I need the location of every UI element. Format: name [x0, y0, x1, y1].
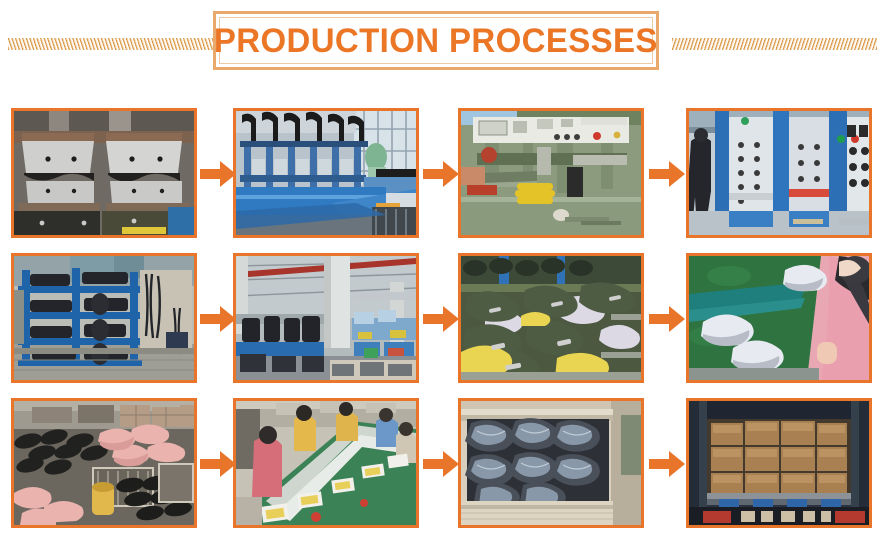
photo-packing — [461, 401, 641, 525]
process-step-photo[interactable] — [458, 108, 644, 238]
process-step-photo[interactable] — [686, 108, 872, 238]
photo-quality-inspection — [689, 256, 869, 380]
arrow-right-icon — [423, 305, 459, 333]
process-step-photo[interactable] — [686, 253, 872, 383]
hatched-divider-left-icon — [8, 38, 213, 50]
process-grid — [0, 88, 889, 536]
photo-molded-uppers — [461, 256, 641, 380]
process-step-photo[interactable] — [233, 398, 419, 528]
photo-machine-operation — [689, 111, 869, 235]
process-step-photo[interactable] — [458, 398, 644, 528]
arrow-right-icon — [423, 450, 459, 478]
hatched-divider-right-icon — [672, 38, 877, 50]
photo-assembly-parts — [14, 401, 194, 525]
arrow-right-icon — [649, 305, 685, 333]
photo-workshop-overview — [236, 256, 416, 380]
process-step-photo[interactable] — [11, 253, 197, 383]
photo-injection-molding-line — [236, 111, 416, 235]
arrow-right-icon — [649, 160, 685, 188]
photo-mold-making — [14, 111, 194, 235]
photo-material-racks — [14, 256, 194, 380]
process-row — [0, 253, 889, 383]
process-step-photo[interactable] — [11, 108, 197, 238]
arrow-right-icon — [200, 160, 236, 188]
title-frame-inner: PRODUCTION PROCESSES — [219, 17, 653, 64]
process-row — [0, 398, 889, 528]
photo-container-loading — [689, 401, 869, 525]
arrow-right-icon — [423, 160, 459, 188]
photo-finishing-line — [236, 401, 416, 525]
page-header: PRODUCTION PROCESSES — [0, 0, 889, 88]
process-step-photo[interactable] — [233, 253, 419, 383]
process-row — [0, 108, 889, 238]
process-step-photo[interactable] — [233, 108, 419, 238]
photo-hydraulic-pressing — [461, 111, 641, 235]
process-step-photo[interactable] — [11, 398, 197, 528]
arrow-right-icon — [200, 305, 236, 333]
arrow-right-icon — [649, 450, 685, 478]
arrow-right-icon — [200, 450, 236, 478]
process-step-photo[interactable] — [686, 398, 872, 528]
page-title: PRODUCTION PROCESSES — [214, 24, 658, 58]
process-step-photo[interactable] — [458, 253, 644, 383]
title-frame: PRODUCTION PROCESSES — [213, 11, 659, 70]
